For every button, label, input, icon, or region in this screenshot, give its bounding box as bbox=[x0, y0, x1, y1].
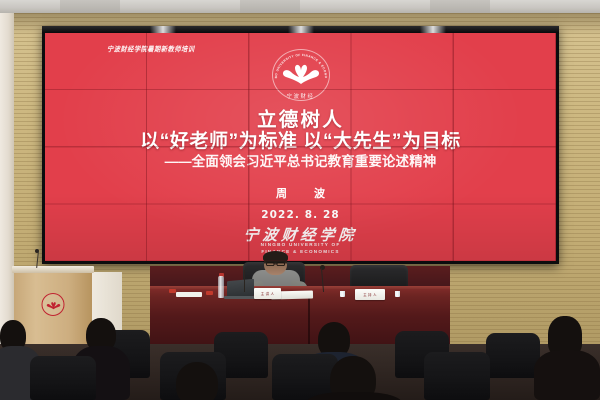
microphone-icon bbox=[35, 249, 39, 253]
documents-stack[interactable] bbox=[176, 292, 202, 297]
slide-date: 2022. 8. 28 bbox=[45, 209, 556, 221]
phoenix-bird-icon bbox=[46, 301, 61, 310]
conference-hall-scene: 宁波财经学院暑期新教师培训 NINGBO UNIVERSITY OF FINAN… bbox=[0, 0, 600, 400]
head-table-seam bbox=[308, 291, 310, 349]
audience-seat[interactable] bbox=[424, 352, 490, 400]
slide-subtitle: ——全面领会习近平总书记教育重要论述精神 bbox=[45, 150, 556, 170]
emblem-cn-text: 宁波财经 bbox=[287, 92, 315, 100]
audience-seat[interactable] bbox=[486, 333, 540, 378]
ceiling-vent bbox=[240, 0, 300, 14]
audience-shoulders bbox=[534, 350, 600, 400]
phoenix-bird-icon bbox=[281, 63, 321, 85]
water-bottle[interactable] bbox=[218, 276, 224, 298]
table-microphone bbox=[244, 270, 245, 292]
lectern-top-surface bbox=[12, 266, 94, 273]
red-marker[interactable] bbox=[206, 291, 213, 295]
slide-kicker-text: 宁波财经学院暑期新教师培训 bbox=[107, 43, 195, 53]
slide-speaker-name: 周 波 bbox=[45, 185, 556, 201]
red-marker[interactable] bbox=[169, 289, 176, 293]
nameplate: 主 持 人 bbox=[355, 289, 385, 300]
water-cup[interactable] bbox=[340, 291, 345, 297]
audience-head bbox=[176, 362, 218, 400]
audience-seat[interactable] bbox=[30, 356, 96, 400]
water-cup[interactable] bbox=[395, 291, 400, 297]
ceiling-vent bbox=[60, 0, 120, 14]
eyeglasses-icon bbox=[266, 262, 285, 266]
slide-title-line2: 以“好老师”为标准 以“大先生”为目标 bbox=[45, 126, 556, 153]
led-video-wall-display[interactable]: 宁波财经学院暑期新教师培训 NINGBO UNIVERSITY OF FINAN… bbox=[45, 33, 556, 261]
university-emblem: NINGBO UNIVERSITY OF FINANCE & ECONOMICS… bbox=[268, 49, 334, 103]
led-video-wall-topbar bbox=[42, 26, 559, 33]
laptop-base[interactable] bbox=[224, 296, 257, 299]
nameplate-label: 主 讲 人 bbox=[254, 291, 281, 296]
lectern-emblem bbox=[42, 293, 65, 316]
nameplate-label: 主 持 人 bbox=[355, 292, 385, 297]
ceiling-vent bbox=[430, 0, 490, 14]
nameplate: 主 讲 人 bbox=[254, 288, 281, 299]
wall-pillar-left bbox=[0, 13, 14, 348]
slide-wordmark-english-line1: NINGBO UNIVERSITY OF bbox=[45, 242, 556, 247]
presentation-slide: 宁波财经学院暑期新教师培训 NINGBO UNIVERSITY OF FINAN… bbox=[45, 33, 556, 261]
slide-wordmark-english-line2: FINANCE & ECONOMICS bbox=[45, 249, 556, 254]
